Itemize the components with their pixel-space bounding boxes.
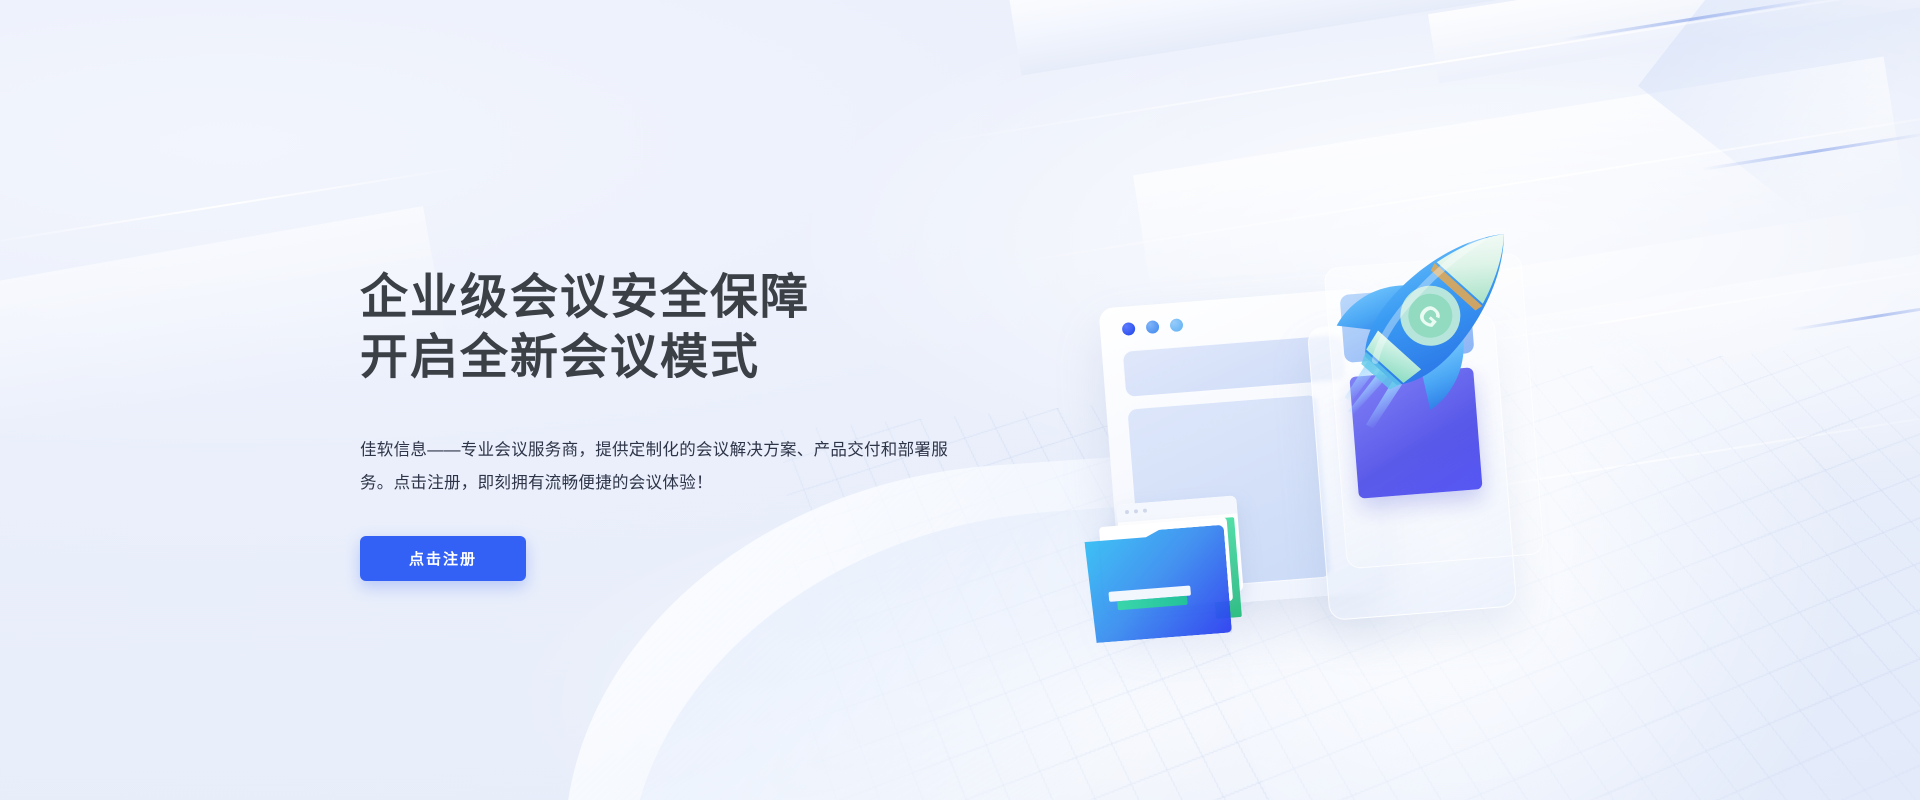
window-dot-icon: [1122, 322, 1136, 336]
rocket-icon: G: [1306, 190, 1556, 440]
folder-body: [1084, 525, 1232, 644]
page-title-line-2: 开启全新会议模式: [360, 328, 1000, 388]
mini-window-dot-icon: [1143, 508, 1147, 512]
hero-illustration: G: [1080, 200, 1600, 670]
window-dot-icon: [1170, 318, 1184, 332]
hero-copy-block: 企业级会议安全保障 开启全新会议模式 佳软信息——专业会议服务商，提供定制化的会…: [360, 268, 1000, 581]
hero-banner: 企业级会议安全保障 开启全新会议模式 佳软信息——专业会议服务商，提供定制化的会…: [0, 0, 1920, 800]
window-dot-icon: [1146, 320, 1160, 334]
hero-description: 佳软信息——专业会议服务商，提供定制化的会议解决方案、产品交付和部署服务。点击注…: [360, 434, 952, 500]
mini-window-dot-icon: [1134, 509, 1138, 513]
mini-window-dot-icon: [1125, 510, 1129, 514]
window-traffic-lights: [1122, 318, 1184, 336]
register-button[interactable]: 点击注册: [360, 536, 526, 581]
page-title-line-1: 企业级会议安全保障: [360, 268, 1000, 328]
folder-icon: [1084, 525, 1232, 644]
